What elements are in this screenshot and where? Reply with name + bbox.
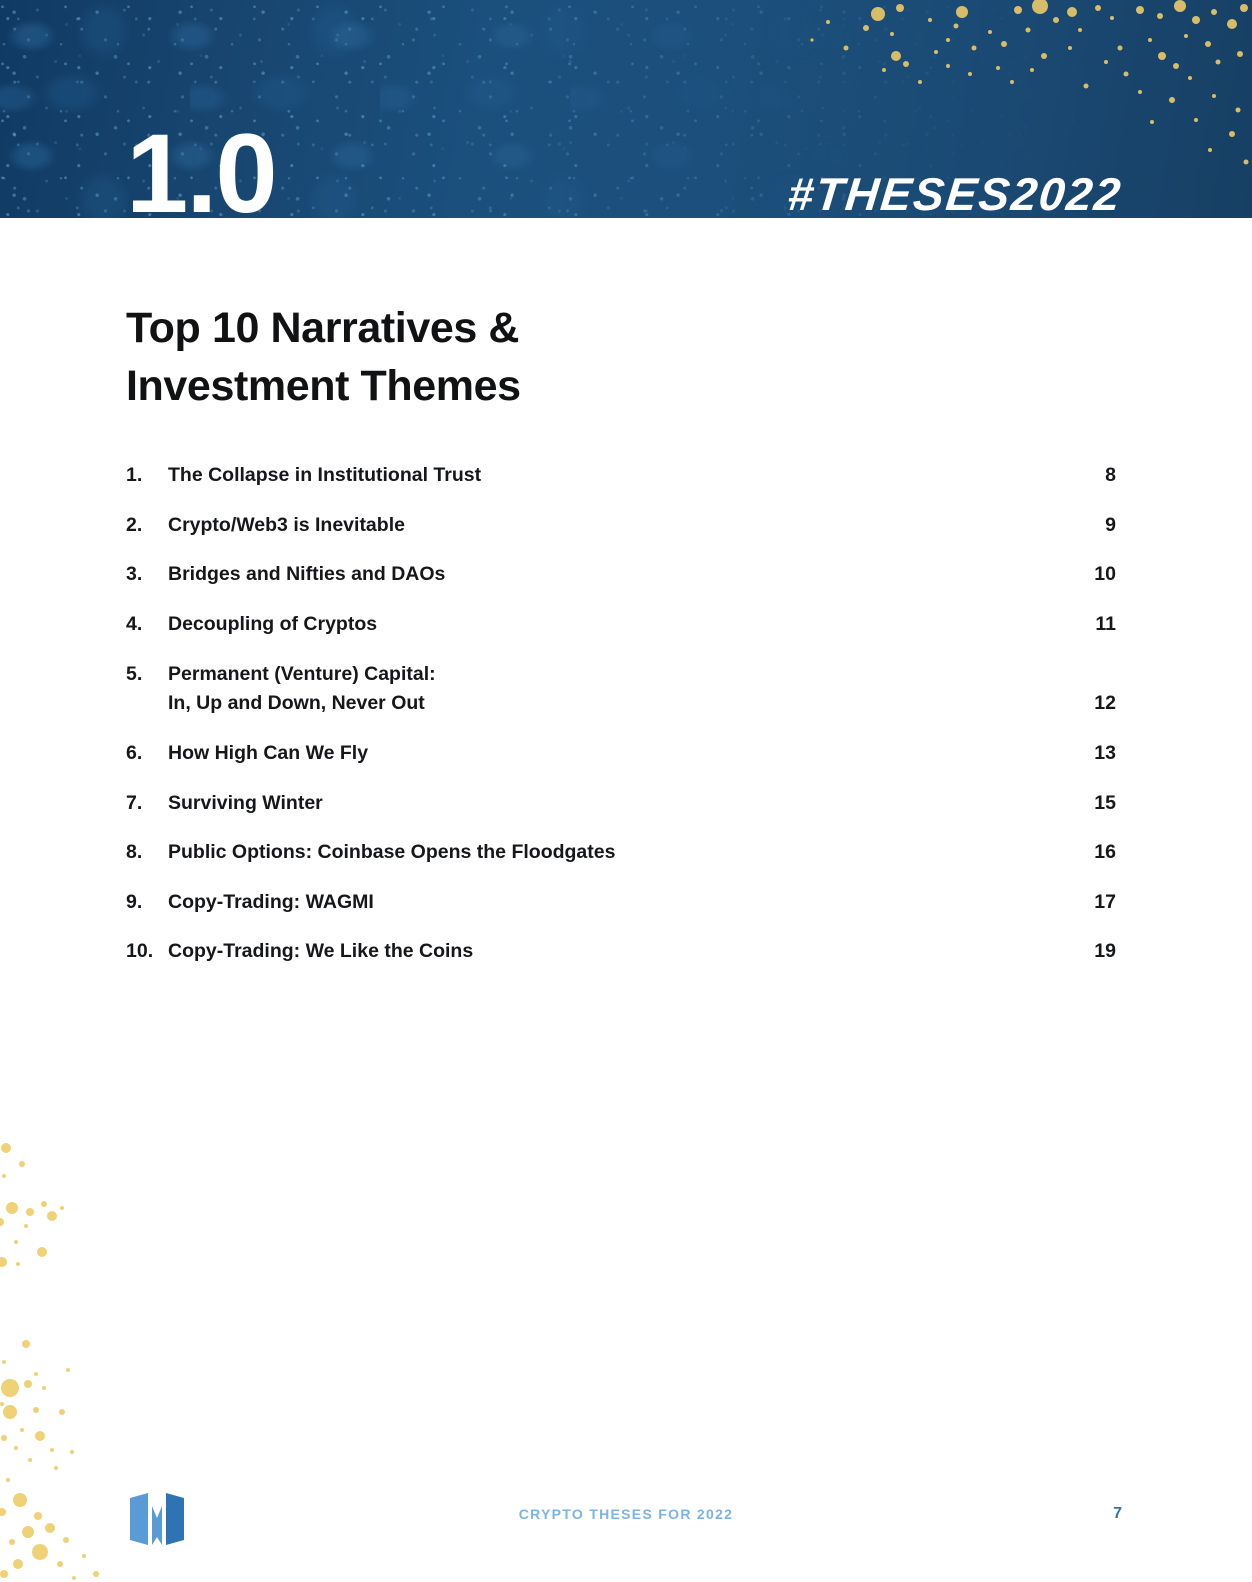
table-of-contents: 1.The Collapse in Institutional Trust82.… (126, 461, 1116, 967)
section-number: 1.0 (126, 118, 276, 218)
page-header-band: 1.0 #THESES2022 (0, 0, 1252, 218)
toc-item-number: 2. (126, 511, 168, 541)
toc-item-number: 7. (126, 789, 168, 819)
toc-row[interactable]: 8.Public Options: Coinbase Opens the Flo… (126, 838, 1116, 868)
toc-item-number: 9. (126, 888, 168, 918)
toc-row[interactable]: 4.Decoupling of Cryptos11 (126, 610, 1116, 640)
toc-item-page-number: 8 (1046, 461, 1116, 491)
toc-item-number: 4. (126, 610, 168, 640)
toc-item-page-number: 12 (1046, 689, 1116, 719)
toc-row[interactable]: 6.How High Can We Fly13 (126, 739, 1116, 769)
toc-item-page-number: 15 (1046, 789, 1116, 819)
toc-item-page-number: 11 (1046, 610, 1116, 640)
toc-item-label[interactable]: Copy-Trading: We Like the Coins (168, 937, 1046, 967)
footer-page-number: 7 (1113, 1505, 1122, 1523)
toc-row[interactable]: 2.Crypto/Web3 is Inevitable9 (126, 511, 1116, 541)
toc-item-label[interactable]: Public Options: Coinbase Opens the Flood… (168, 838, 1046, 868)
toc-item-number: 3. (126, 560, 168, 590)
toc-item-label[interactable]: The Collapse in Institutional Trust (168, 461, 1046, 491)
toc-item-page-number: 13 (1046, 739, 1116, 769)
toc-row[interactable]: 9.Copy-Trading: WAGMI17 (126, 888, 1116, 918)
toc-item-page-number: 16 (1046, 838, 1116, 868)
toc-item-page-number: 19 (1046, 937, 1116, 967)
toc-item-label[interactable]: Surviving Winter (168, 789, 1046, 819)
toc-item-number: 1. (126, 461, 168, 491)
toc-row[interactable]: 3.Bridges and Nifties and DAOs10 (126, 560, 1116, 590)
toc-item-label[interactable]: Bridges and Nifties and DAOs (168, 560, 1046, 590)
page-title: Top 10 Narratives & Investment Themes (126, 300, 1116, 415)
toc-row[interactable]: 5.Permanent (Venture) Capital: In, Up an… (126, 660, 1116, 719)
page-content: Top 10 Narratives & Investment Themes 1.… (126, 300, 1116, 987)
toc-item-page-number: 17 (1046, 888, 1116, 918)
toc-item-label[interactable]: How High Can We Fly (168, 739, 1046, 769)
page-footer: CRYPTO THESES FOR 2022 7 (0, 1472, 1252, 1582)
toc-row[interactable]: 10.Copy-Trading: We Like the Coins19 (126, 937, 1116, 967)
toc-item-page-number: 10 (1046, 560, 1116, 590)
toc-item-label[interactable]: Decoupling of Cryptos (168, 610, 1046, 640)
theses-hashtag: #THESES2022 (786, 171, 1125, 217)
toc-item-page-number: 9 (1046, 511, 1116, 541)
toc-item-label[interactable]: Crypto/Web3 is Inevitable (168, 511, 1046, 541)
toc-item-number: 6. (126, 739, 168, 769)
toc-item-number: 5. (126, 660, 168, 690)
toc-item-label[interactable]: Copy-Trading: WAGMI (168, 888, 1046, 918)
footer-document-title: CRYPTO THESES FOR 2022 (0, 1506, 1252, 1522)
toc-item-number: 8. (126, 838, 168, 868)
toc-row[interactable]: 1.The Collapse in Institutional Trust8 (126, 461, 1116, 491)
toc-row[interactable]: 7.Surviving Winter15 (126, 789, 1116, 819)
toc-item-label[interactable]: Permanent (Venture) Capital: In, Up and … (168, 660, 1046, 719)
toc-item-number: 10. (126, 937, 168, 967)
document-page: 1.0 #THESES2022 Top 10 Narratives & Inve… (0, 0, 1252, 1582)
